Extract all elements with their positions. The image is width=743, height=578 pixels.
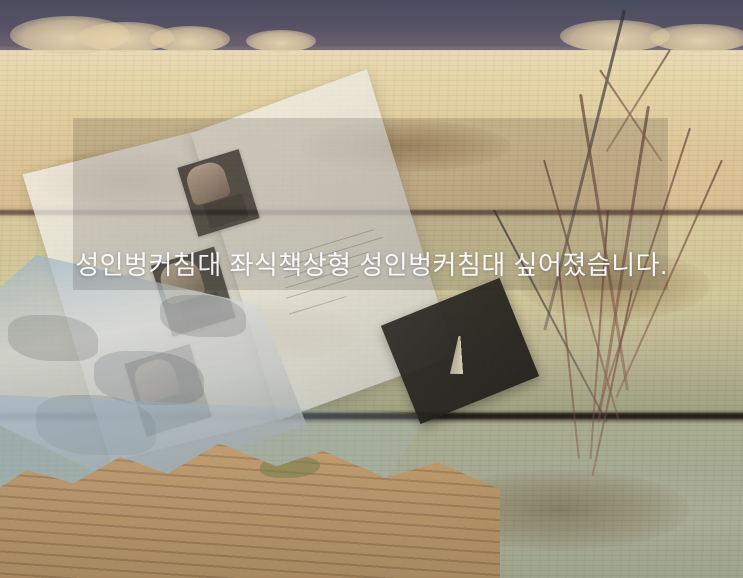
caption-text: 성인벙커침대 좌식책상형 성인벙커침대 싶어졌습니다.: [58, 248, 685, 282]
rock-shape: [160, 295, 246, 337]
cloud: [246, 30, 316, 52]
cloud: [150, 26, 230, 52]
composite-image-canvas: 성인벙커침대 좌식책상형 성인벙커침대 싶어졌습니다.: [0, 0, 743, 578]
